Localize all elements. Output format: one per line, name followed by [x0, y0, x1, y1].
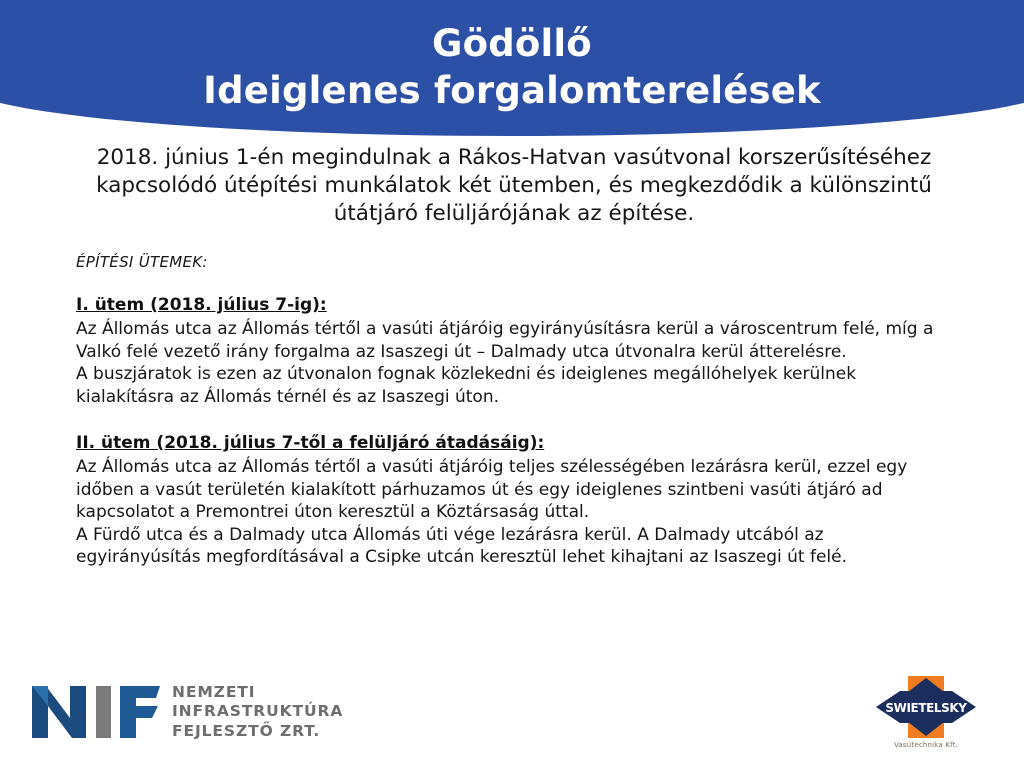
svg-text:SWIETELSKY: SWIETELSKY — [885, 701, 967, 715]
nif-wordmark-line-1: NEMZETI — [172, 683, 343, 703]
header-banner: Gödöllő Ideiglenes forgalomterelések — [0, 0, 1024, 136]
phase-1-heading: I. ütem (2018. július 7-ig): — [76, 294, 327, 317]
slide-body: 2018. június 1-én megindulnak a Rákos-Ha… — [76, 144, 952, 569]
phase-2-heading: II. ütem (2018. július 7-től a felüljáró… — [76, 432, 544, 455]
header-titles: Gödöllő Ideiglenes forgalomterelések — [0, 0, 1024, 114]
footer-logos: NEMZETI INFRASTRUKTÚRA FEJLESZTŐ ZRT. SW… — [0, 672, 1024, 768]
phase-1-paragraph-1: Az Állomás utca az Állomás tértől a vasú… — [76, 318, 952, 363]
phase-2-paragraph-2: A Fürdő utca és a Dalmady utca Állomás ú… — [76, 524, 952, 569]
phase-block-2: II. ütem (2018. július 7-től a felüljáró… — [76, 432, 952, 569]
nif-logo: NEMZETI INFRASTRUKTÚRA FEJLESZTŐ ZRT. — [28, 682, 343, 742]
phase-2-paragraph-1: Az Állomás utca az Állomás tértől a vasú… — [76, 456, 952, 524]
nif-wordmark-line-2: INFRASTRUKTÚRA — [172, 702, 343, 722]
page-title-line-2: Ideiglenes forgalomterelések — [0, 66, 1024, 114]
swietelsky-mark-icon: SWIETELSKY — [870, 676, 982, 738]
phase-heading-wrap: I. ütem (2018. július 7-ig): — [76, 294, 952, 318]
phase-1-paragraph-2: A buszjáratok is ezen az útvonalon fogna… — [76, 363, 952, 408]
intro-paragraph: 2018. június 1-én megindulnak a Rákos-Ha… — [76, 144, 952, 228]
slide-root: { "header": { "title_line_1": "Gödöllő",… — [0, 0, 1024, 768]
nif-monogram-icon — [28, 682, 160, 742]
swietelsky-emblem-icon: SWIETELSKY — [870, 676, 982, 738]
nif-wordmark: NEMZETI INFRASTRUKTÚRA FEJLESZTŐ ZRT. — [172, 683, 343, 742]
phases-label: ÉPÍTÉSI ÜTEMEK: — [76, 252, 952, 272]
page-title-line-1: Gödöllő — [0, 0, 1024, 66]
phase-heading-wrap: II. ütem (2018. július 7-től a felüljáró… — [76, 432, 952, 456]
swietelsky-logo: SWIETELSKY Vasútechnika Kft. — [870, 676, 982, 750]
swietelsky-caption: Vasútechnika Kft. — [870, 741, 982, 750]
nif-wordmark-line-3: FEJLESZTŐ ZRT. — [172, 722, 343, 742]
phase-block-1: I. ütem (2018. július 7-ig): Az Állomás … — [76, 294, 952, 408]
